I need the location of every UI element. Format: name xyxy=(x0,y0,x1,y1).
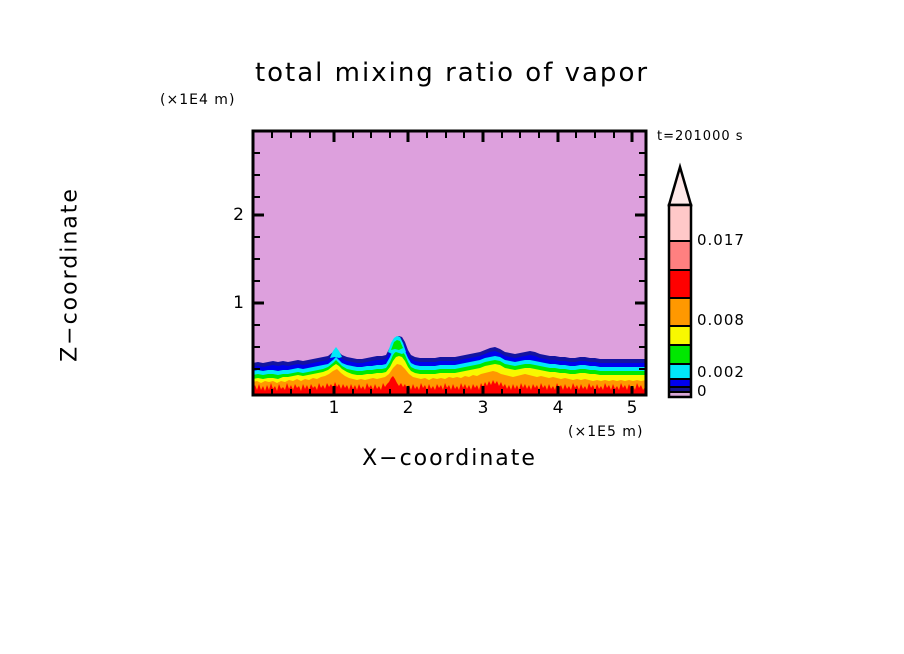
colorbar-label: 0.002 xyxy=(697,363,745,381)
figure-canvas: total mixing ratio of vapor (×1E4 m) (×1… xyxy=(0,0,904,654)
colorbar-label: 0.017 xyxy=(697,231,745,249)
x-tick-label: 5 xyxy=(622,398,642,418)
x-tick-label: 4 xyxy=(548,398,568,418)
x-tick-label: 3 xyxy=(473,398,493,418)
x-tick-label: 2 xyxy=(398,398,418,418)
y-tick-label: 1 xyxy=(224,293,244,313)
colorbar-arrow-top xyxy=(669,167,691,205)
colorbar-band-3 xyxy=(669,379,691,387)
contour-plot xyxy=(0,0,904,654)
colorbar xyxy=(669,167,691,397)
colorbar-band-4 xyxy=(669,364,691,379)
colorbar-label: 0.008 xyxy=(697,311,745,329)
colorbar-band-9 xyxy=(669,241,691,270)
colorbar-band-6 xyxy=(669,326,691,345)
colorbar-band-10 xyxy=(669,205,691,241)
y-tick-label: 2 xyxy=(224,205,244,225)
colorbar-band-7 xyxy=(669,298,691,326)
x-tick-label: 1 xyxy=(324,398,344,418)
colorbar-band-8 xyxy=(669,270,691,298)
colorbar-band-5 xyxy=(669,345,691,364)
colorbar-label: 0 xyxy=(697,382,708,400)
